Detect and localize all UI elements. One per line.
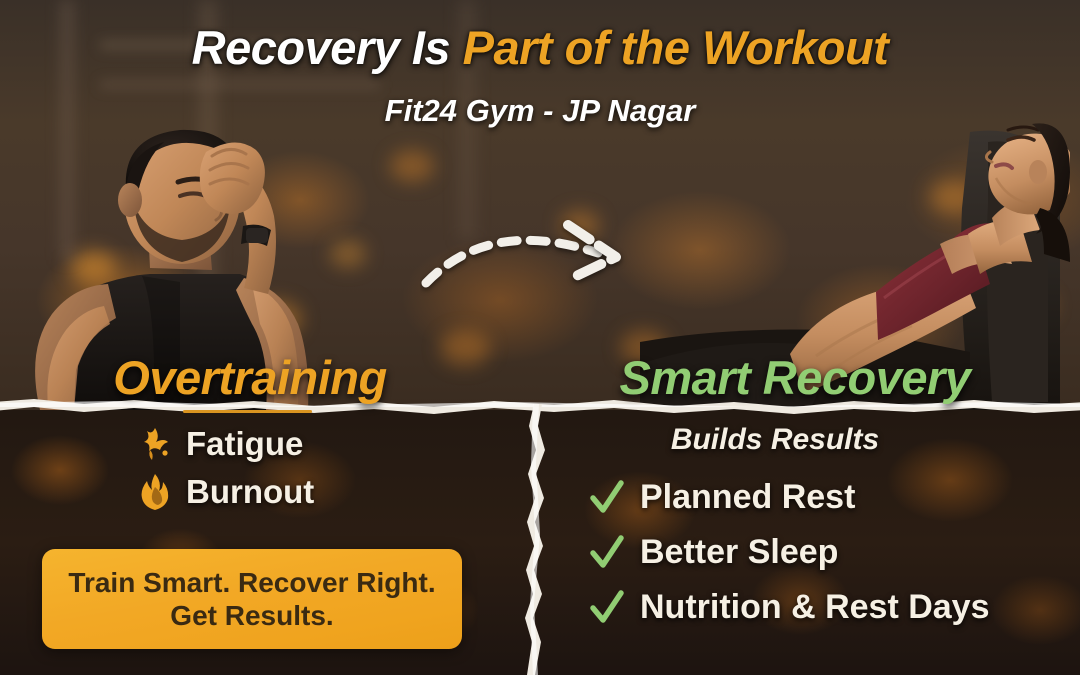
smart-recovery-benefit-list: Planned Rest Better Sleep Nutrition & Re… (575, 470, 1045, 635)
cta-line-1: Train Smart. Recover Right. (68, 566, 435, 599)
list-item: Fatigue (60, 420, 480, 468)
cta-banner[interactable]: Train Smart. Recover Right. Get Results. (42, 549, 462, 649)
vertical-torn-paper-divider (518, 404, 562, 675)
list-item: Nutrition & Rest Days (575, 580, 1045, 635)
title-accent-part: Part of the Workout (463, 21, 889, 74)
list-item-label: Burnout (186, 473, 314, 511)
overtraining-symptom-list: Fatigue Burnout (60, 420, 480, 516)
check-icon (590, 589, 624, 627)
list-item-label: Better Sleep (640, 533, 838, 572)
list-item: Burnout (60, 468, 480, 516)
right-column-heading: Smart Recovery (560, 350, 1030, 405)
list-item-label: Fatigue (186, 425, 303, 463)
list-item: Planned Rest (575, 470, 1045, 525)
right-column-subheading: Builds Results (560, 423, 990, 457)
check-icon (590, 479, 624, 517)
flame-burst-icon (138, 426, 172, 462)
list-item-label: Nutrition & Rest Days (640, 588, 990, 627)
gym-subtitle: Fit24 Gym - JP Nagar (0, 93, 1080, 129)
title-white-part: Recovery Is (192, 21, 463, 74)
cta-line-2: Get Results. (170, 599, 333, 632)
list-item: Better Sleep (575, 525, 1045, 580)
left-heading-underline (183, 410, 312, 413)
flame-icon (138, 474, 172, 510)
page-title: Recovery Is Part of the Workout (0, 20, 1080, 75)
curved-dashed-arrow-right-icon (420, 205, 670, 335)
fitness-infographic-poster: Recovery Is Part of the Workout Fit24 Gy… (0, 0, 1080, 675)
list-item-label: Planned Rest (640, 478, 855, 517)
check-icon (590, 534, 624, 572)
left-column-heading: Overtraining (0, 350, 500, 405)
